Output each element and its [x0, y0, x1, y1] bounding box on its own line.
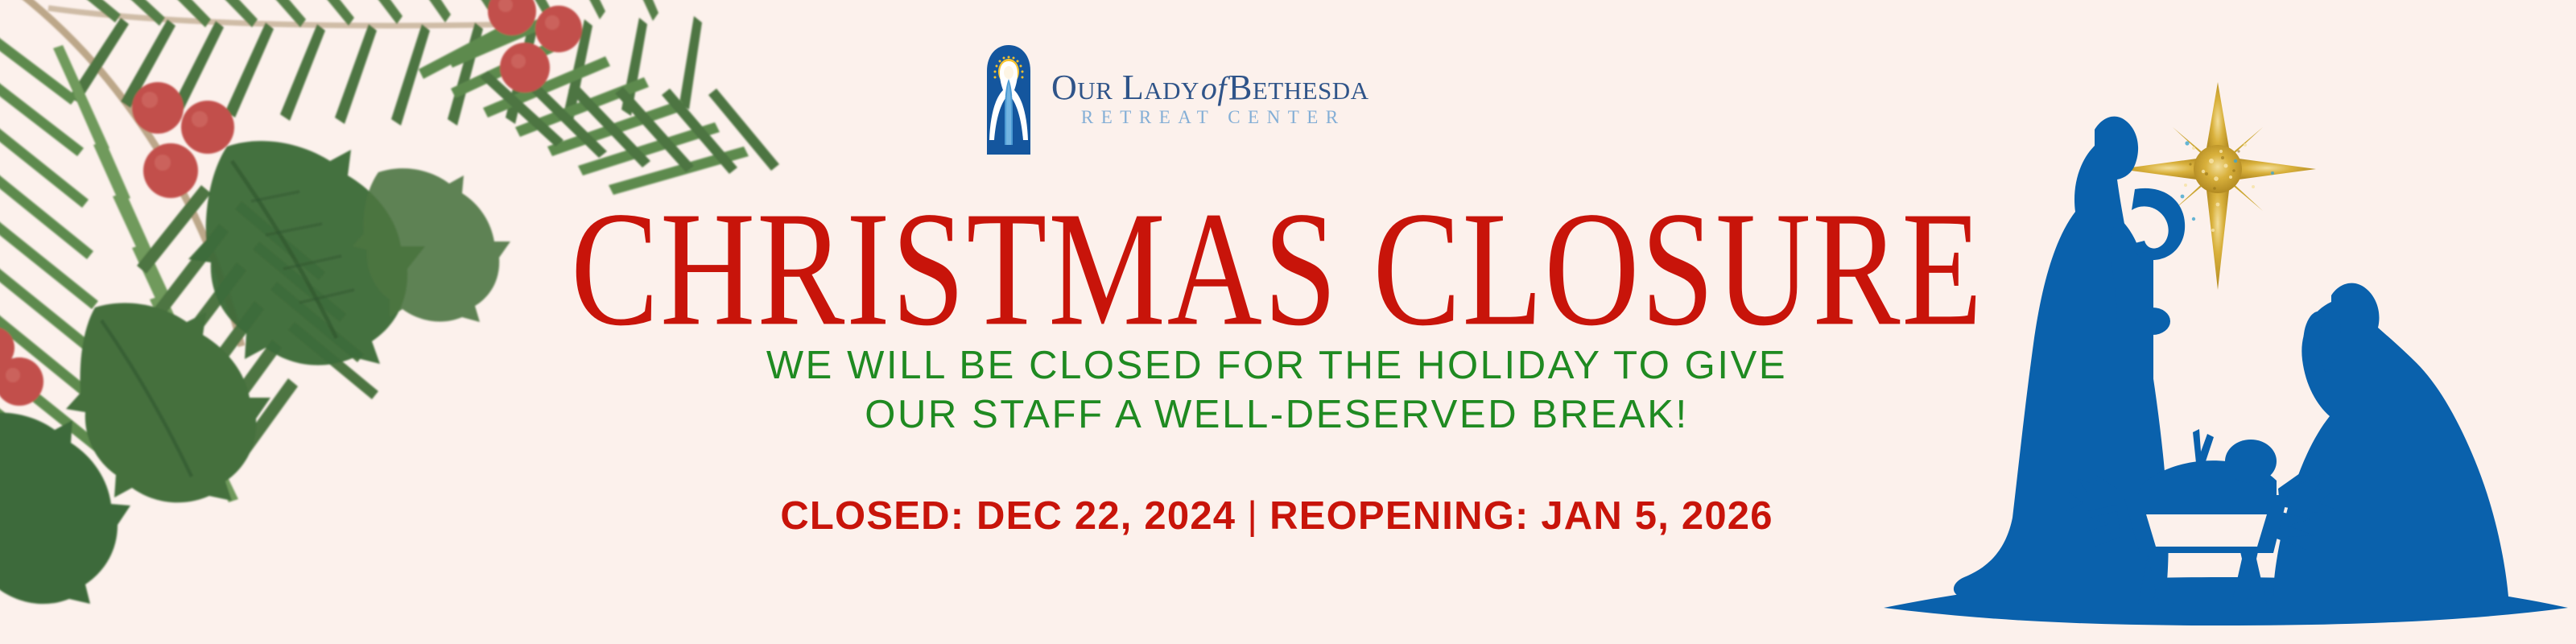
our-lady-marian-medal-icon — [984, 42, 1034, 155]
closed-date-label: CLOSED: DEC 22, 2024 — [780, 494, 1236, 538]
closure-message-line-1: WE WILL BE CLOSED FOR THE HOLIDAY TO GIV… — [0, 341, 2576, 390]
closure-message-line-2: OUR STAFF A WELL-DESERVED BREAK! — [0, 390, 2576, 440]
logo-title-part2: Bethesda — [1228, 68, 1369, 107]
mary-silhouette — [2273, 283, 2508, 597]
headline-text: CHRISTMAS CLOSURE — [571, 188, 1984, 352]
christmas-closure-banner: Our LadyofBethesda RETREAT CENTER CHRIST… — [0, 0, 2576, 644]
closure-message: WE WILL BE CLOSED FOR THE HOLIDAY TO GIV… — [0, 341, 2576, 440]
logo-subtitle: RETREAT CENTER — [1051, 108, 1369, 126]
logo-title: Our LadyofBethesda — [1051, 70, 1369, 105]
logo-title-of: of — [1199, 70, 1228, 106]
date-separator: | — [1236, 494, 1269, 538]
logo-title-part1: Our Lady — [1051, 68, 1199, 107]
reopening-date-label: REOPENING: JAN 5, 2026 — [1269, 494, 1773, 538]
logo-wordmark: Our LadyofBethesda RETREAT CENTER — [1051, 70, 1369, 126]
closure-dates: CLOSED: DEC 22, 2024|REOPENING: JAN 5, 2… — [0, 492, 2576, 540]
page-title: CHRISTMAS CLOSURE — [0, 188, 2576, 329]
ground-silhouette — [1884, 577, 2568, 625]
organization-logo[interactable]: Our LadyofBethesda RETREAT CENTER — [984, 42, 1369, 155]
